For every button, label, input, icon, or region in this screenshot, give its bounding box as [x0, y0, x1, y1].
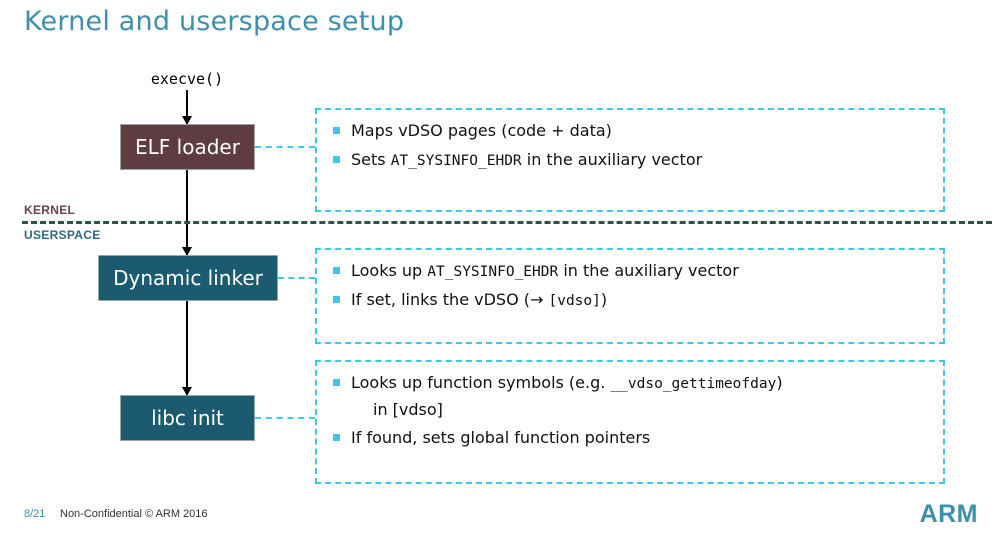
item-code: AT_SYSINFO_EHDR	[427, 264, 558, 280]
flow-box-elf-loader[interactable]: ELF loader	[120, 124, 255, 170]
square-bullet-icon	[333, 296, 340, 303]
callout-dynamic-linker: Looks up AT_SYSINFO_EHDR in the auxiliar…	[315, 248, 945, 344]
list-item: Looks up AT_SYSINFO_EHDR in the auxiliar…	[331, 260, 929, 283]
flow-box-label: ELF loader	[135, 135, 240, 159]
item-text: Maps vDSO pages (code + data)	[351, 121, 612, 140]
zone-label-userspace: USERSPACE	[24, 228, 101, 242]
list-item: Looks up function symbols (e.g. __vdso_g…	[331, 372, 929, 395]
zone-label-kernel: KERNEL	[24, 203, 75, 217]
list-item-continuation: in [vdso]	[331, 399, 929, 422]
footer-page-number: 8/21	[24, 508, 45, 520]
footer-confidentiality: Non-Confidential © ARM 2016	[60, 508, 208, 520]
callout-libc-init: Looks up function symbols (e.g. __vdso_g…	[315, 360, 945, 484]
item-text-tail: in the auxiliary vector	[522, 150, 703, 169]
square-bullet-icon	[333, 267, 340, 274]
square-bullet-icon	[333, 434, 340, 441]
square-bullet-icon	[333, 127, 340, 134]
list-item: If found, sets global function pointers	[331, 427, 929, 450]
connector-elf-loader	[255, 146, 315, 148]
arrow-elf-loader-to-dynamic-linker	[186, 170, 188, 255]
item-code: AT_SYSINFO_EHDR	[391, 153, 522, 169]
list-item: Sets AT_SYSINFO_EHDR in the auxiliary ve…	[331, 149, 929, 172]
item-text-tail: in the auxiliary vector	[558, 261, 739, 280]
item-text-tail: )	[601, 290, 607, 309]
flow-box-label: Dynamic linker	[113, 266, 263, 290]
list-item: If set, links the vDSO (→ [vdso])	[331, 289, 929, 312]
arrow-execve-to-elf-loader	[186, 90, 188, 124]
square-bullet-icon	[333, 156, 340, 163]
execve-entry-label: execve()	[112, 70, 262, 88]
connector-dynamic-linker	[278, 277, 315, 279]
item-code: [vdso]	[548, 293, 600, 309]
flow-box-label: libc init	[151, 406, 224, 430]
slide: Kernel and userspace setup execve() ELF …	[0, 0, 1000, 546]
item-code: __vdso_gettimeofday	[610, 376, 776, 392]
item-text-tail: )	[776, 373, 782, 392]
connector-libc-init	[255, 417, 315, 419]
callout-elf-loader: Maps vDSO pages (code + data) Sets AT_SY…	[315, 108, 945, 212]
callout-list: Looks up function symbols (e.g. __vdso_g…	[331, 372, 929, 450]
item-text: Looks up function symbols (e.g.	[351, 373, 610, 392]
item-text: If found, sets global function pointers	[351, 428, 650, 447]
square-bullet-icon	[333, 379, 340, 386]
flow-box-dynamic-linker[interactable]: Dynamic linker	[98, 255, 278, 301]
arrow-dynamic-linker-to-libc-init	[186, 301, 188, 395]
item-text: If set, links the vDSO (→	[351, 290, 548, 309]
callout-list: Maps vDSO pages (code + data) Sets AT_SY…	[331, 120, 929, 171]
list-item: Maps vDSO pages (code + data)	[331, 120, 929, 143]
item-text: Looks up	[351, 261, 427, 280]
kernel-userspace-divider	[22, 221, 992, 224]
page-title: Kernel and userspace setup	[24, 6, 404, 37]
flow-box-libc-init[interactable]: libc init	[120, 395, 255, 441]
item-text: Sets	[351, 150, 391, 169]
callout-list: Looks up AT_SYSINFO_EHDR in the auxiliar…	[331, 260, 929, 311]
arm-logo: ARM	[920, 500, 978, 529]
